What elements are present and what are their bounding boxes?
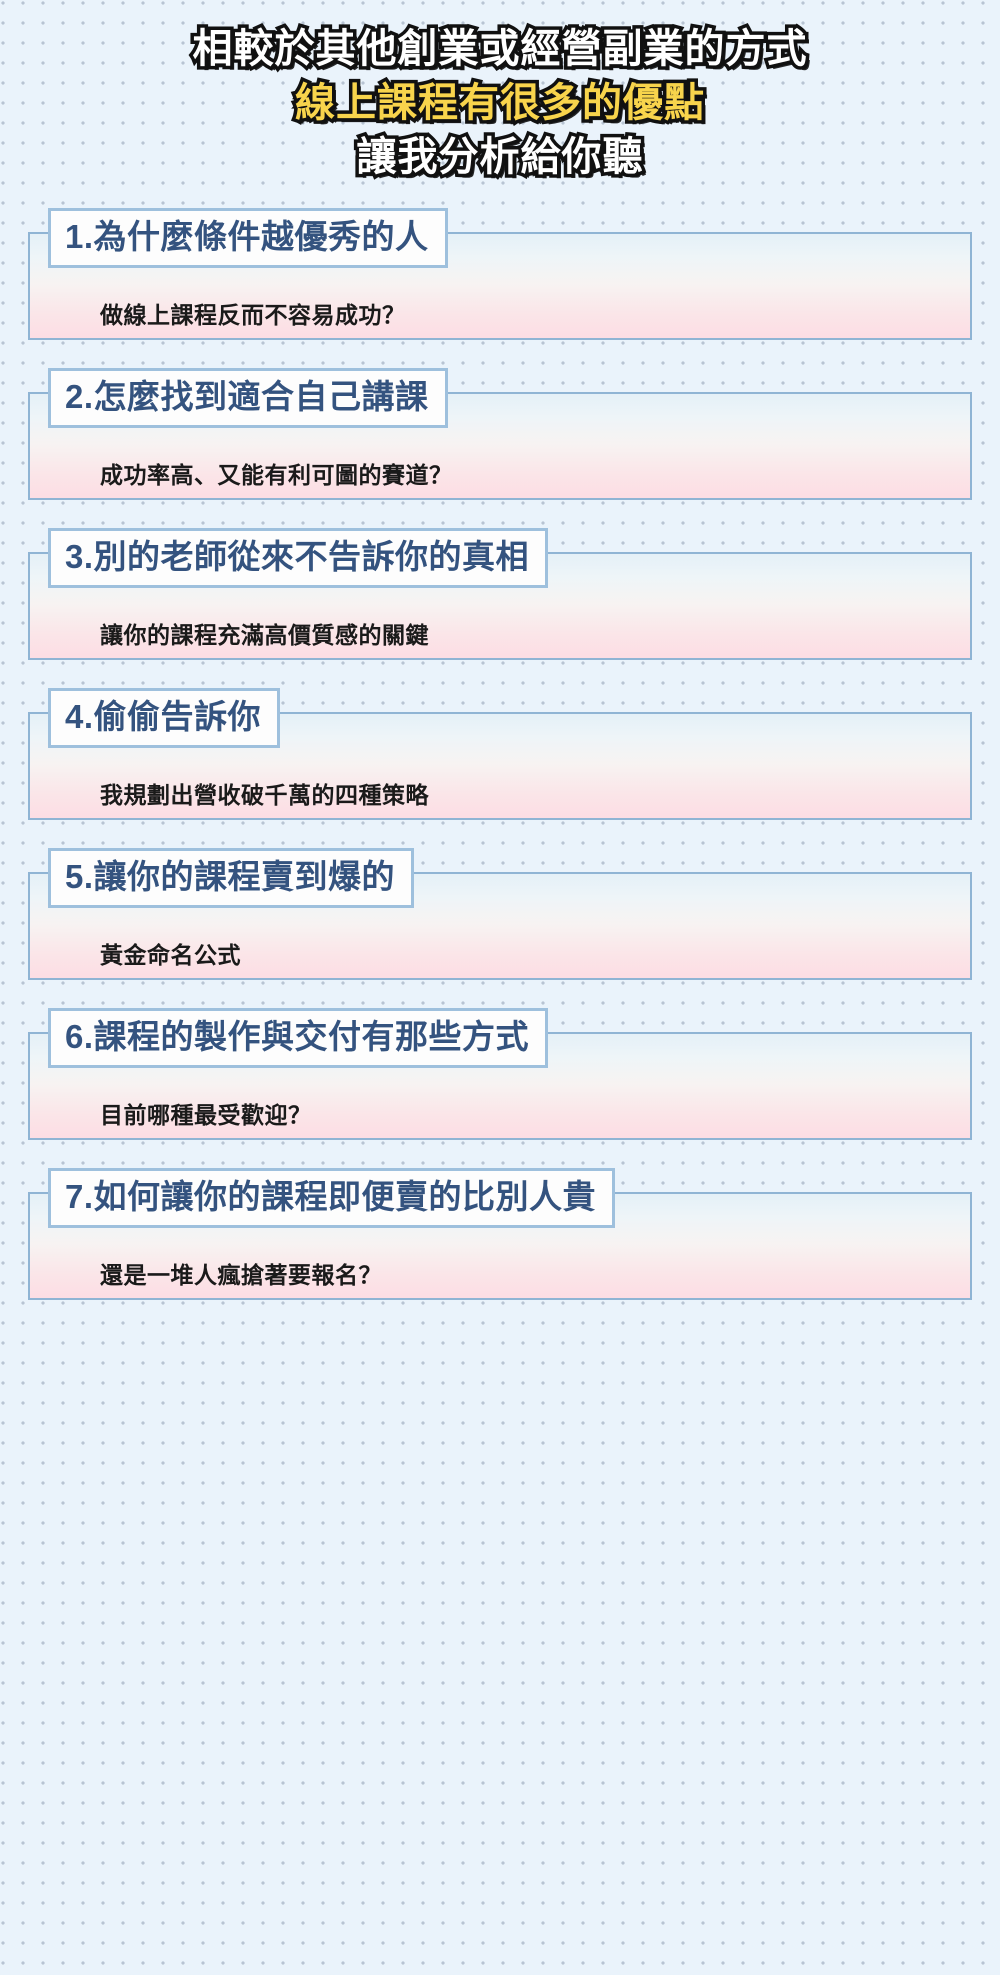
list-item[interactable]: 做線上課程反而不容易成功？1.為什麼條件越優秀的人 xyxy=(28,208,972,340)
list-item[interactable]: 目前哪種最受歡迎？6.課程的製作與交付有那些方式 xyxy=(28,1008,972,1140)
card-subtitle: 黃金命名公式 xyxy=(100,936,241,970)
card-title-box[interactable]: 7.如何讓你的課程即便賣的比別人貴 xyxy=(48,1168,615,1228)
card-subtitle: 讓你的課程充滿高價質感的關鍵 xyxy=(100,616,429,650)
card-subtitle: 目前哪種最受歡迎？ xyxy=(100,1096,312,1130)
poster-header: 相較於其他創業或經營副業的方式 線上課程有很多的優點 讓我分析給你聽 xyxy=(0,0,1000,184)
card-list: 做線上課程反而不容易成功？1.為什麼條件越優秀的人成功率高、又能有利可圖的賽道？… xyxy=(0,208,1000,1300)
card-title-box[interactable]: 4.偷偷告訴你 xyxy=(48,688,280,748)
card-title: 3.別的老師從來不告訴你的真相 xyxy=(65,537,529,577)
card-title-box[interactable]: 1.為什麼條件越優秀的人 xyxy=(48,208,448,268)
list-item[interactable]: 讓你的課程充滿高價質感的關鍵3.別的老師從來不告訴你的真相 xyxy=(28,528,972,660)
card-title: 5.讓你的課程賣到爆的 xyxy=(65,857,395,897)
card-title-box[interactable]: 2.怎麼找到適合自己講課 xyxy=(48,368,448,428)
card-title: 7.如何讓你的課程即便賣的比別人貴 xyxy=(65,1177,596,1217)
card-subtitle: 做線上課程反而不容易成功？ xyxy=(100,296,406,330)
card-subtitle: 還是一堆人瘋搶著要報名？ xyxy=(100,1256,382,1290)
card-title: 2.怎麼找到適合自己講課 xyxy=(65,377,429,417)
list-item[interactable]: 成功率高、又能有利可圖的賽道？2.怎麼找到適合自己講課 xyxy=(28,368,972,500)
card-subtitle: 成功率高、又能有利可圖的賽道？ xyxy=(100,456,453,490)
list-item[interactable]: 黃金命名公式5.讓你的課程賣到爆的 xyxy=(28,848,972,980)
list-item[interactable]: 還是一堆人瘋搶著要報名？7.如何讓你的課程即便賣的比別人貴 xyxy=(28,1168,972,1300)
header-line-1: 相較於其他創業或經營副業的方式 xyxy=(0,22,1000,76)
card-title: 6.課程的製作與交付有那些方式 xyxy=(65,1017,529,1057)
card-title-box[interactable]: 3.別的老師從來不告訴你的真相 xyxy=(48,528,548,588)
card-title-box[interactable]: 5.讓你的課程賣到爆的 xyxy=(48,848,414,908)
card-subtitle: 我規劃出營收破千萬的四種策略 xyxy=(100,776,429,810)
list-item[interactable]: 我規劃出營收破千萬的四種策略4.偷偷告訴你 xyxy=(28,688,972,820)
card-title: 4.偷偷告訴你 xyxy=(65,697,261,737)
poster-page: 相較於其他創業或經營副業的方式 線上課程有很多的優點 讓我分析給你聽 做線上課程… xyxy=(0,0,1000,1975)
header-line-2: 線上課程有很多的優點 xyxy=(0,76,1000,130)
header-line-3: 讓我分析給你聽 xyxy=(0,130,1000,184)
card-title-box[interactable]: 6.課程的製作與交付有那些方式 xyxy=(48,1008,548,1068)
card-title: 1.為什麼條件越優秀的人 xyxy=(65,217,429,257)
